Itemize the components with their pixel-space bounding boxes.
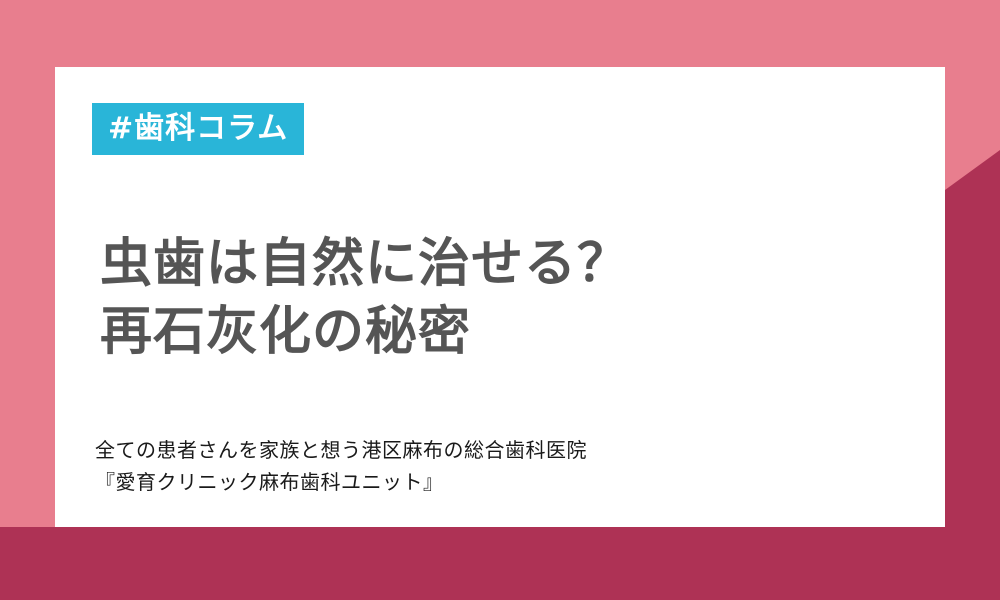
page-title: 虫歯は自然に治せる？ 再石灰化の秘密 <box>100 230 630 366</box>
tag-badge[interactable]: #歯科コラム <box>92 103 304 155</box>
page-title-line-2: 再石灰化の秘密 <box>100 298 630 366</box>
clinic-tagline-line-2: 『愛育クリニック麻布歯科ユニット』 <box>95 466 587 498</box>
content-card: #歯科コラム 虫歯は自然に治せる？ 再石灰化の秘密 全ての患者さんを家族と想う港… <box>55 67 945 527</box>
clinic-tagline-line-1: 全ての患者さんを家族と想う港区麻布の総合歯科医院 <box>95 434 587 466</box>
clinic-tagline: 全ての患者さんを家族と想う港区麻布の総合歯科医院 『愛育クリニック麻布歯科ユニッ… <box>95 434 587 498</box>
article-banner: #歯科コラム 虫歯は自然に治せる？ 再石灰化の秘密 全ての患者さんを家族と想う港… <box>0 0 1000 600</box>
page-title-line-1: 虫歯は自然に治せる？ <box>100 230 630 298</box>
